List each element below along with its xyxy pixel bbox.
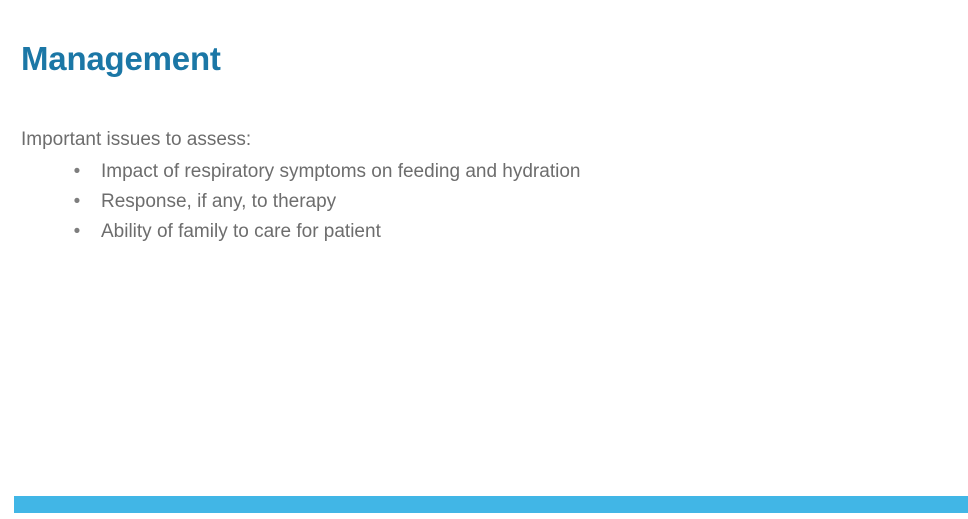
footer-accent-bar [14,496,968,513]
list-item-label: Response, if any, to therapy [101,191,336,212]
lead-line: Important issues to assess: [21,127,941,153]
slide-body: Important issues to assess: • Impact of … [21,127,941,247]
bullet-dot-icon: • [71,157,83,187]
bullet-list: • Impact of respiratory symptoms on feed… [21,157,941,247]
bullet-dot-icon: • [71,187,83,217]
list-item: • Impact of respiratory symptoms on feed… [21,157,941,187]
page-title: Management [21,39,921,79]
slide: Management Important issues to assess: •… [0,0,968,519]
list-item: • Response, if any, to therapy [21,187,941,217]
list-item-label: Impact of respiratory symptoms on feedin… [101,161,580,182]
list-item: • Ability of family to care for patient [21,217,941,247]
list-item-label: Ability of family to care for patient [101,221,381,242]
bullet-dot-icon: • [71,217,83,247]
